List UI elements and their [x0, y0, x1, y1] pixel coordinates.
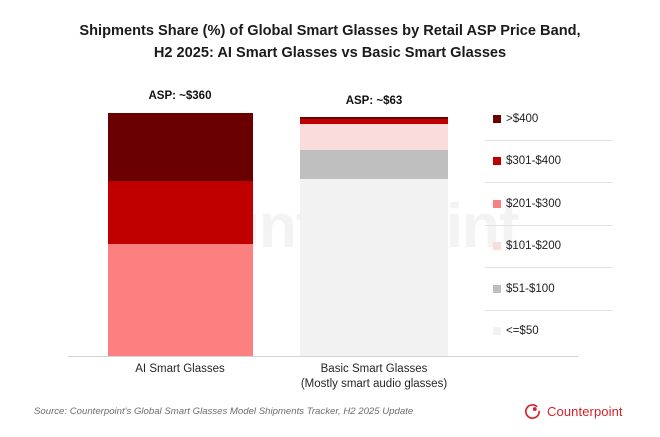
- legend-swatch-icon: [493, 157, 501, 165]
- legend: >$400$301-$400$201-$300$101-$200$51-$100…: [480, 98, 615, 352]
- source-note: Source: Counterpoint's Global Smart Glas…: [34, 406, 413, 417]
- legend-swatch-icon: [493, 285, 501, 293]
- x-tick-label-basic-sub: (Mostly smart audio glasses): [294, 377, 454, 392]
- x-axis-line: [68, 356, 578, 357]
- legend-label: >$400: [506, 113, 538, 125]
- asp-annotation-basic: ASP: ~$63: [300, 95, 448, 107]
- title-line-1: Shipments Share (%) of Global Smart Glas…: [30, 20, 630, 42]
- legend-item-101-200[interactable]: $101-$200: [480, 226, 615, 268]
- legend-label: $301-$400: [506, 155, 561, 167]
- bar-segment-ai-smart-glasses: [108, 244, 253, 356]
- legend-label: $201-$300: [506, 198, 561, 210]
- legend-item-51-100[interactable]: $51-$100: [480, 268, 615, 310]
- legend-swatch-icon: [493, 327, 501, 335]
- legend-swatch-icon: [493, 242, 501, 250]
- title-line-2: H2 2025: AI Smart Glasses vs Basic Smart…: [30, 42, 630, 64]
- legend-item-301-400[interactable]: $301-$400: [480, 141, 615, 183]
- legend-item-201-300[interactable]: $201-$300: [480, 183, 615, 225]
- chart-container: Counterpoint Shipments Share (%) of Glob…: [0, 0, 660, 437]
- page-title: Shipments Share (%) of Global Smart Glas…: [30, 20, 630, 64]
- legend-label: $51-$100: [506, 283, 555, 295]
- asp-annotation-ai: ASP: ~$360: [108, 90, 252, 102]
- x-tick-label-basic-main: Basic Smart Glasses: [294, 362, 454, 377]
- x-tick-label-basic-smart-glasses: Basic Smart Glasses (Mostly smart audio …: [294, 362, 454, 392]
- legend-item-50[interactable]: <=$50: [480, 311, 615, 353]
- x-tick-label-ai-main: AI Smart Glasses: [100, 362, 260, 377]
- legend-label: $101-$200: [506, 240, 561, 252]
- bar-segment-basic-smart-glasses: [300, 150, 448, 179]
- brand-name: Counterpoint: [547, 404, 623, 419]
- bar-stack-basic-smart-glasses: [300, 117, 448, 356]
- counterpoint-mark-icon: [524, 403, 541, 420]
- bar-segment-ai-smart-glasses: [108, 181, 253, 244]
- legend-item-400[interactable]: >$400: [480, 98, 615, 140]
- bar-segment-basic-smart-glasses: [300, 124, 448, 150]
- x-tick-label-ai-smart-glasses: AI Smart Glasses: [100, 362, 260, 377]
- bar-segment-ai-smart-glasses: [108, 113, 253, 181]
- bar-segment-basic-smart-glasses: [300, 179, 448, 356]
- bar-stack-ai-smart-glasses: [108, 113, 253, 356]
- legend-label: <=$50: [506, 325, 539, 337]
- legend-swatch-icon: [493, 200, 501, 208]
- counterpoint-logo: Counterpoint: [524, 403, 623, 420]
- legend-swatch-icon: [493, 115, 501, 123]
